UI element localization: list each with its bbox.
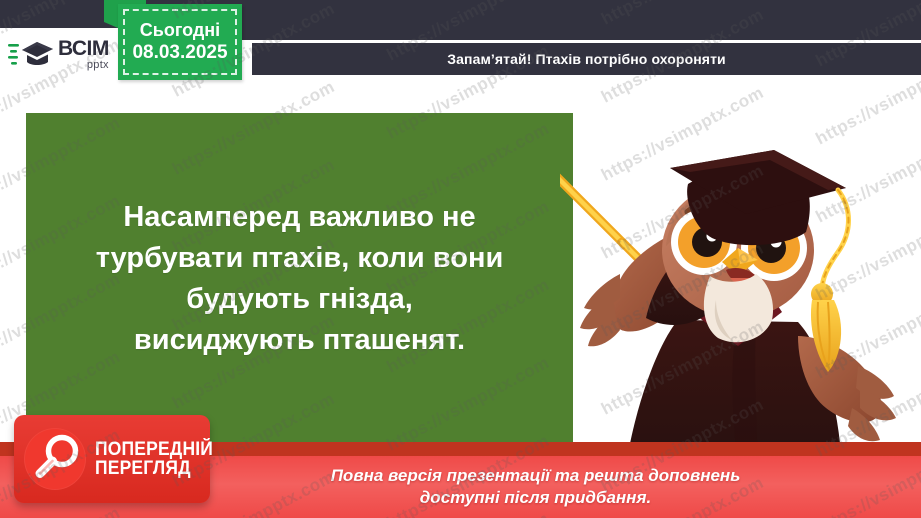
preview-badge-line1: ПОПЕРЕДНІЙ <box>95 440 213 459</box>
purchase-banner-text: Повна версія презентації та решта доповн… <box>181 465 741 509</box>
slide-root: ВСІМ pptx Сьогодні 08.03.2025 Запам’ятай… <box>0 0 921 518</box>
content-panel: Насамперед важливо не турбувати птахів, … <box>26 113 573 453</box>
owl-professor-illustration <box>560 150 921 470</box>
preview-badge[interactable]: ПОПЕРЕДНІЙ ПЕРЕГЛЯД <box>14 415 210 503</box>
magnifier-icon <box>24 428 86 490</box>
slide-title-bar: Запам’ятай! Птахів потрібно охороняти <box>252 43 921 75</box>
content-text: Насамперед важливо не турбувати птахів, … <box>96 197 504 362</box>
graduation-cap-icon <box>8 37 54 71</box>
date-badge-label: Сьогодні <box>140 19 220 42</box>
date-badge-value: 08.03.2025 <box>132 41 227 65</box>
page-title: Запам’ятай! Птахів потрібно охороняти <box>447 51 725 67</box>
logo-subtitle: pptx <box>58 60 109 71</box>
preview-badge-line2: ПЕРЕГЛЯД <box>95 459 213 478</box>
logo-title: ВСІМ <box>58 38 109 59</box>
date-badge: Сьогодні 08.03.2025 <box>118 4 242 80</box>
